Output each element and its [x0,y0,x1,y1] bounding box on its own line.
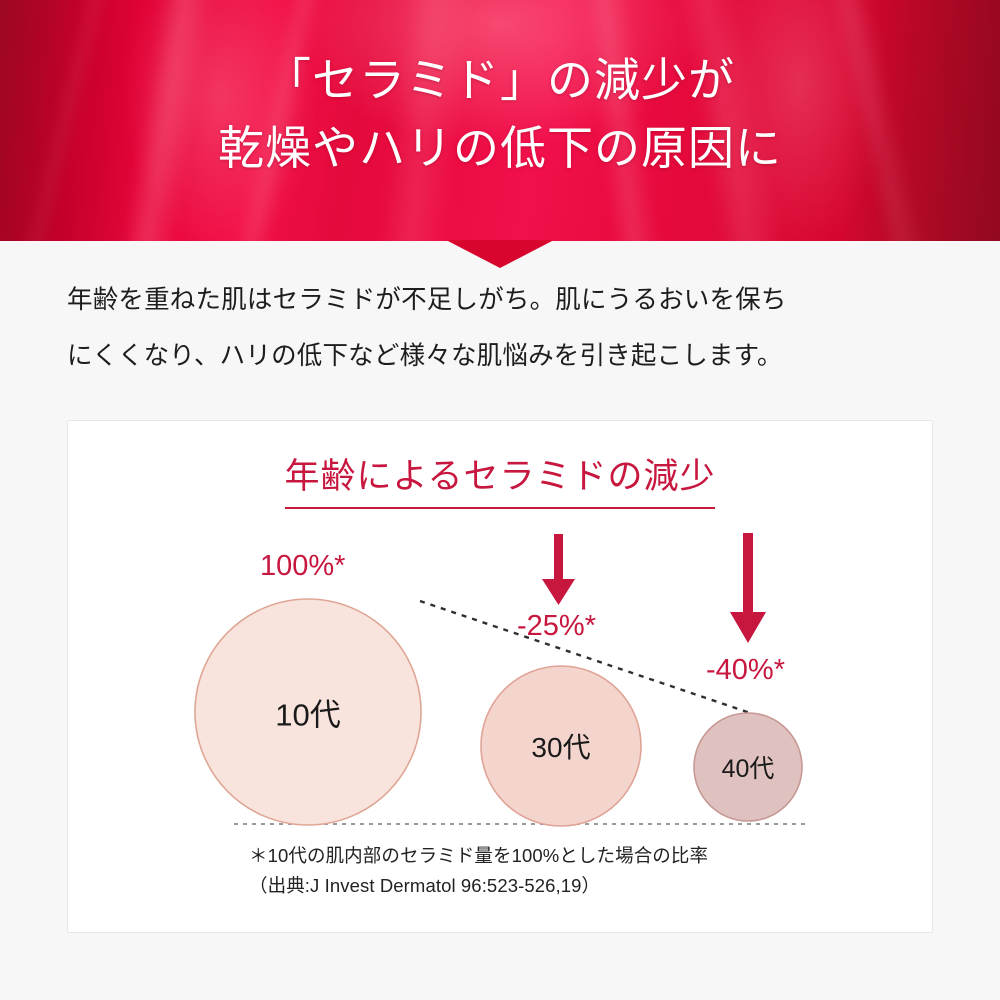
hero-notch-triangle [446,240,554,268]
value-label-10dai: 100%* [260,552,345,581]
footnote-line-2: （出典:J Invest Dermatol 96:523-526,19） [249,871,708,901]
bubble-category-label-30dai: 30代 [531,726,590,766]
ceramide-chart-card: 年齢によるセラミドの減少 100%* [67,420,933,933]
bubble-category-label-40dai: 40代 [722,749,775,785]
hero-banner: 「セラミド」の減少が 乾燥やハリの低下の原因に [0,0,1000,241]
intro-line-2: にくくなり、ハリの低下など様々な肌悩みを引き起こします。 [67,328,937,384]
value-label-30dai: -25%* [517,612,596,641]
hero-headline-line-2: 乾燥やハリの低下の原因に [0,114,1000,182]
footnote-line-1: ＊10代の肌内部のセラミド量を100%とした場合の比率 [249,841,708,871]
hero-headline: 「セラミド」の減少が 乾燥やハリの低下の原因に [0,46,1000,182]
value-label-40dai: -40%* [706,656,785,685]
arrow-down-icon [730,533,766,643]
arrow-down-icon [542,534,575,605]
intro-line-1: 年齢を重ねた肌はセラミドが不足しがち。肌にうるおいを保ち [67,272,937,328]
chart-footnote: ＊10代の肌内部のセラミド量を100%とした場合の比率 （出典:J Invest… [249,841,708,901]
hero-headline-line-1: 「セラミド」の減少が [0,46,1000,114]
intro-paragraph: 年齢を重ねた肌はセラミドが不足しがち。肌にうるおいを保ち にくくなり、ハリの低下… [67,272,937,384]
bubble-category-label-10dai: 10代 [275,690,340,735]
